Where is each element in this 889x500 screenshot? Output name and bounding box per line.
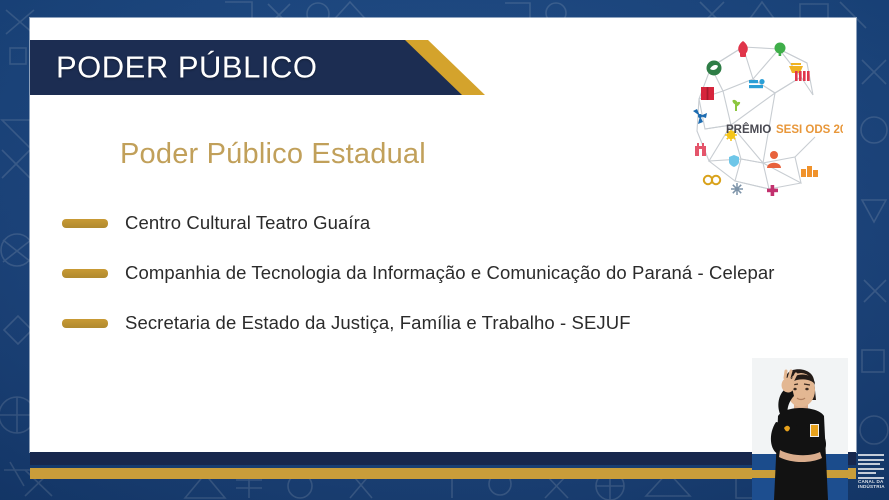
list-item-label: Secretaria de Estado da Justiça, Família… [125,312,631,334]
canal-da-industria-logo-icon [858,454,884,481]
list-item-label: Centro Cultural Teatro Guaíra [125,212,370,234]
organization-list: Centro Cultural Teatro Guaíra Companhia … [62,198,822,348]
premio-sesi-ods-logo: PRÊMIO SESI ODS 2021 [683,33,843,198]
list-item: Companhia de Tecnologia da Informação e … [62,248,822,298]
dash-marker-icon [62,219,108,228]
page-title: PODER PÚBLICO [56,49,317,85]
logo-sesi-ods-text: SESI ODS 2021 [776,124,843,136]
list-item: Secretaria de Estado da Justiça, Família… [62,298,822,348]
slide-subtitle: Poder Público Estadual [120,138,426,171]
dash-marker-icon [62,269,108,278]
footer-gold-bar [30,468,856,479]
watermark-line-2: INDÚSTRIA [858,484,885,489]
dash-marker-icon [62,319,108,328]
canal-da-industria-watermark: CANAL DA INDÚSTRIA [856,452,889,500]
footer-navy-bar [30,452,856,465]
slide-title-banner: PODER PÚBLICO [30,40,485,95]
sign-language-interpreter [752,358,848,500]
sign-language-interpreter-icon [752,358,848,500]
watermark-text: CANAL DA INDÚSTRIA [858,479,885,490]
list-item-label: Companhia de Tecnologia da Informação e … [125,262,775,284]
list-item: Centro Cultural Teatro Guaíra [62,198,822,248]
premio-sesi-ods-network-icon: PRÊMIO SESI ODS 2021 [683,33,843,198]
slide-screenshot: PODER PÚBLICO Poder Público Estadual Cen… [0,0,889,500]
logo-premio-text: PRÊMIO [726,123,771,136]
